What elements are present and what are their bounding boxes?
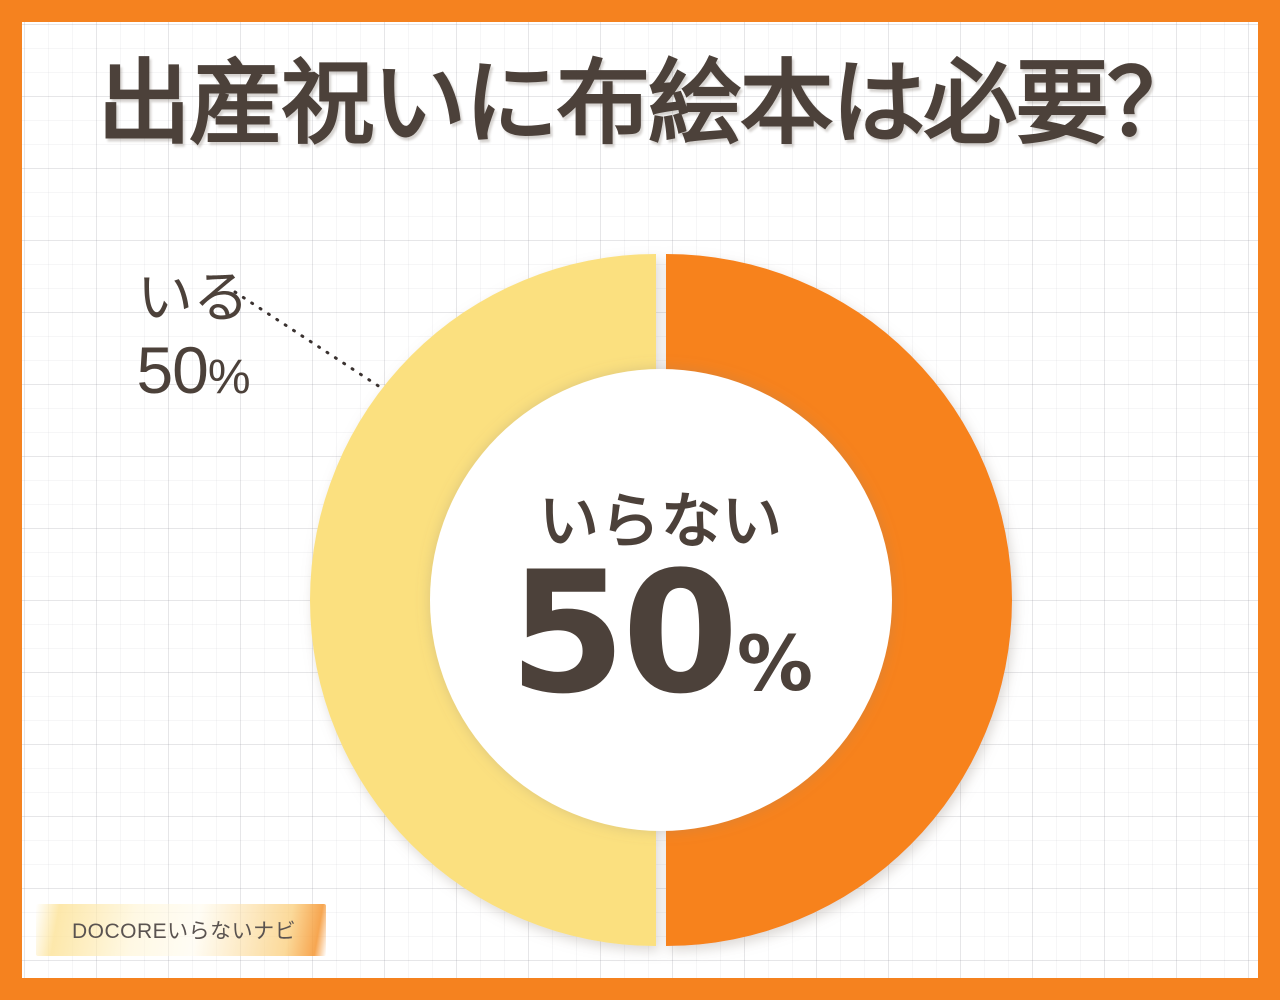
slice-label-iru-percent-symbol: % (208, 351, 250, 404)
donut-center-hole (430, 369, 892, 831)
slice-label-iru: いる 50% (68, 270, 318, 411)
content-area: 出産祝いに布絵本は必要？ (22, 22, 1258, 978)
watermark-text: DOCOREいらないナビ (36, 915, 296, 945)
page-title: 出産祝いに布絵本は必要？ (40, 44, 1256, 164)
slice-label-iru-name: いる (68, 270, 318, 329)
donut-chart (315, 254, 1007, 946)
donut-chart-svg (315, 254, 1007, 946)
watermark-logo: DOCOREいらないナビ (36, 904, 326, 956)
slice-label-iru-number: 50 (136, 333, 207, 407)
orange-border-frame: 出産祝いに布絵本は必要？ (0, 0, 1280, 1000)
infographic-page: 出産祝いに布絵本は必要？ (0, 0, 1280, 1000)
slice-label-iru-value: 50% (68, 329, 318, 412)
page-title-text: 出産祝いに布絵本は必要？ (97, 58, 1199, 150)
